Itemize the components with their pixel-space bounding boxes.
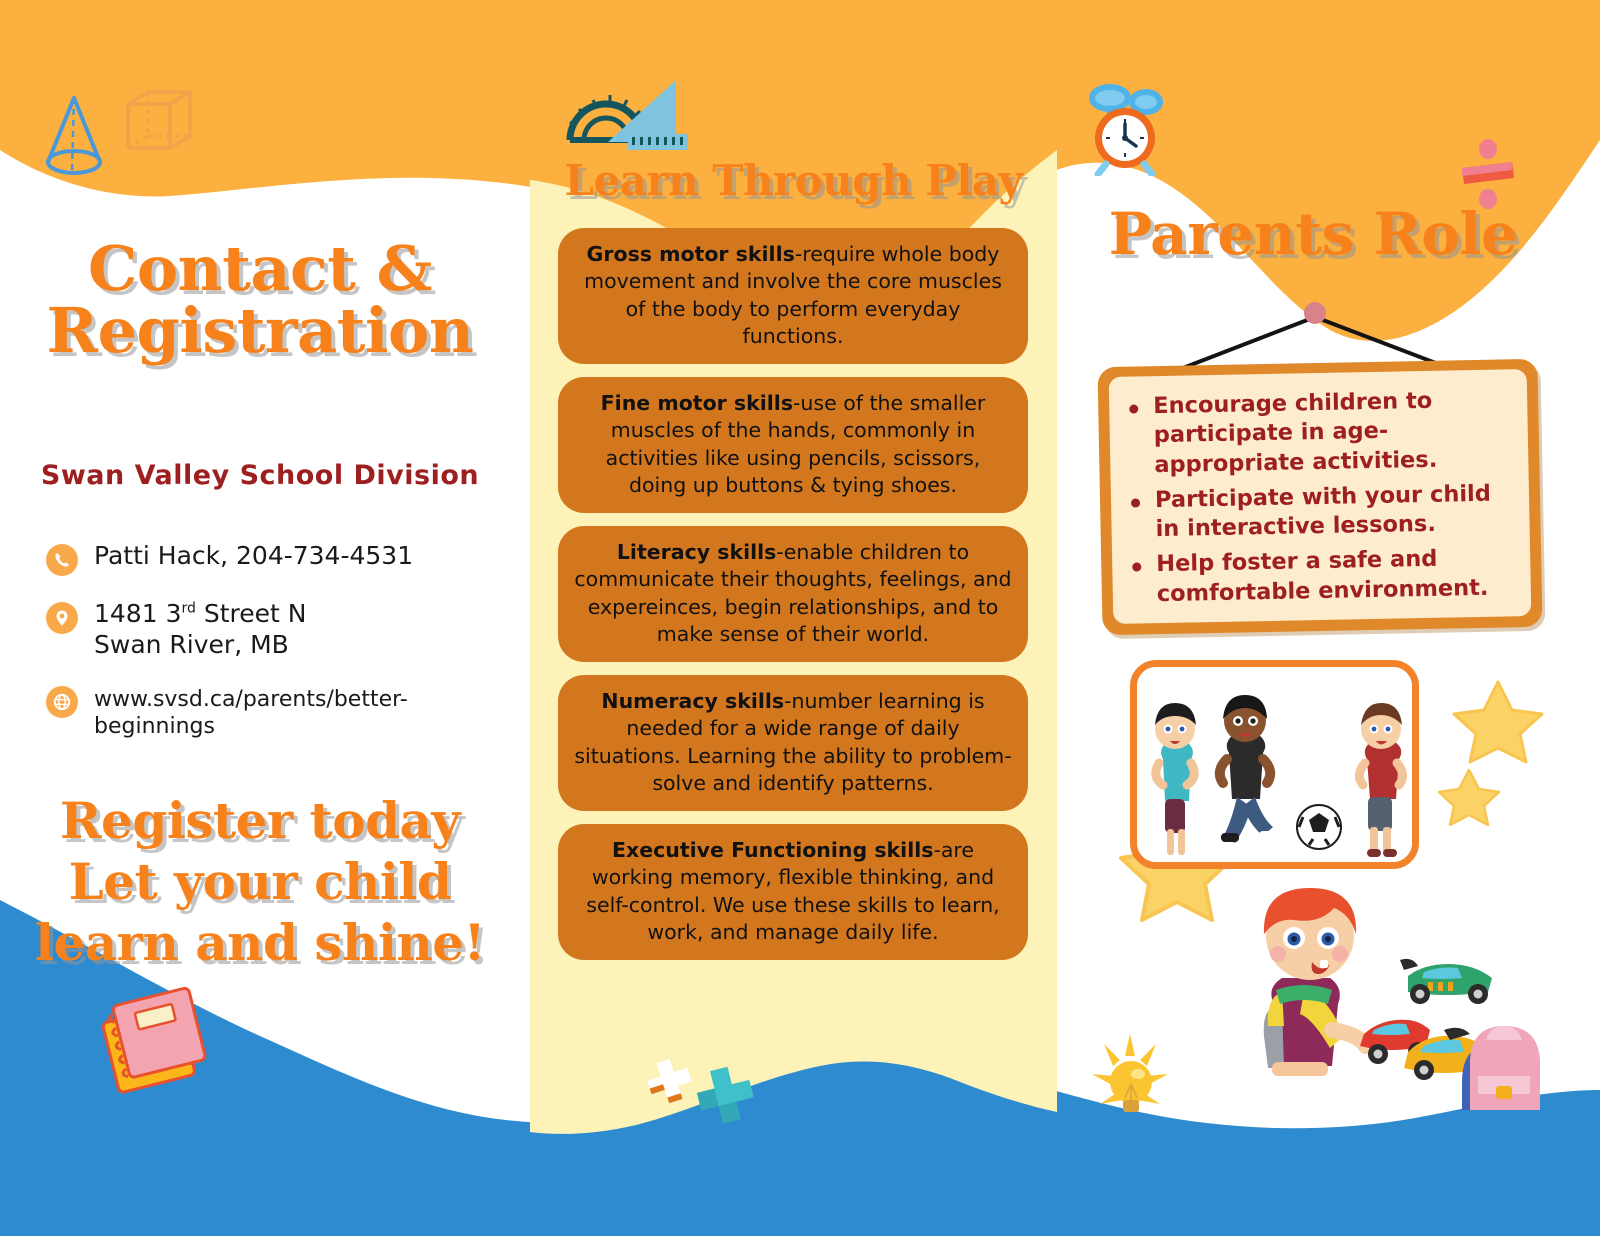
kids-playing-soccer-illustration	[1130, 660, 1419, 869]
phone-icon	[46, 544, 78, 576]
boy-with-toy-cars-illustration	[1212, 880, 1552, 1110]
address-text: 1481 3rd Street N Swan River, MB	[94, 598, 306, 660]
skill-card-term: Literacy skills	[617, 540, 777, 564]
skill-card-term: Gross motor skills	[587, 242, 795, 266]
soccer-ball	[1297, 805, 1341, 849]
website-text: www.svsd.ca/parents/better-beginnings	[94, 682, 526, 741]
contact-phone-row[interactable]: Patti Hack, 204-734-4531	[46, 540, 526, 576]
sign-inner-panel: Encourage children to participate in age…	[1109, 369, 1532, 624]
skill-card-term: Fine motor skills	[601, 391, 793, 415]
contact-title-line-2: Registration	[0, 300, 520, 362]
registration-slogan: Register today Let your child learn and …	[0, 790, 520, 973]
contact-website-row[interactable]: www.svsd.ca/parents/better-beginnings	[46, 682, 526, 741]
parents-role-bullet: Participate with your child in interacti…	[1121, 479, 1514, 545]
parents-role-bullet: Encourage children to participate in age…	[1119, 385, 1513, 480]
boy-figure	[1264, 888, 1366, 1076]
contact-title-line-1: Contact &	[0, 238, 520, 300]
contact-title: Contact & Registration	[0, 238, 520, 362]
location-pin-icon	[46, 602, 78, 634]
address-street: Street N	[196, 599, 307, 628]
parents-role-bullet-list: Encourage children to participate in age…	[1119, 385, 1515, 609]
globe-icon	[46, 686, 78, 718]
learn-through-play-column: Learn Through Play Gross motor skills-re…	[530, 0, 1057, 1236]
slogan-line-2: Let your child	[0, 851, 520, 912]
skill-card-term: Executive Functioning skills	[612, 838, 933, 862]
hanging-sign: Encourage children to participate in age…	[1090, 295, 1550, 645]
toy-car-green	[1400, 959, 1492, 1004]
phone-text: Patti Hack, 204-734-4531	[94, 540, 413, 572]
brochure-page: Contact & Registration Swan Valley Schoo…	[0, 0, 1600, 1236]
slogan-line-3: learn and shine!	[0, 912, 520, 973]
skill-card: Fine motor skills-use of the smaller mus…	[558, 377, 1028, 513]
skill-card-term: Numeracy skills	[601, 689, 784, 713]
slogan-line-1: Register today	[0, 790, 520, 851]
skill-card: Gross motor skills-require whole body mo…	[558, 228, 1028, 364]
parents-role-title: Parents Role	[1098, 205, 1528, 263]
parents-role-bullet: Help foster a safe and comfortable envir…	[1122, 544, 1515, 610]
contact-address-row[interactable]: 1481 3rd Street N Swan River, MB	[46, 598, 526, 660]
address-line-2: Swan River, MB	[94, 630, 289, 659]
backpack-icon	[1462, 1026, 1540, 1110]
contact-details-list: Patti Hack, 204-734-4531 1481 3rd Street…	[46, 540, 526, 763]
learn-through-play-title: Learn Through Play	[530, 160, 1057, 202]
skill-card: Literacy skills-enable children to commu…	[558, 526, 1028, 662]
address-line-1: 1481 3rd Street N	[94, 599, 306, 628]
school-division-name: Swan Valley School Division	[0, 460, 520, 491]
address-number: 1481 3	[94, 599, 181, 628]
address-ordinal-suffix: rd	[181, 601, 195, 617]
soccer-kids-svg	[1137, 667, 1412, 862]
contact-column: Contact & Registration Swan Valley Schoo…	[0, 0, 530, 1236]
skill-cards-list: Gross motor skills-require whole body mo…	[558, 228, 1028, 973]
skill-card: Executive Functioning skills-are working…	[558, 824, 1028, 960]
sign-board: Encourage children to participate in age…	[1097, 359, 1542, 635]
skill-card: Numeracy skills-number learning is neede…	[558, 675, 1028, 811]
